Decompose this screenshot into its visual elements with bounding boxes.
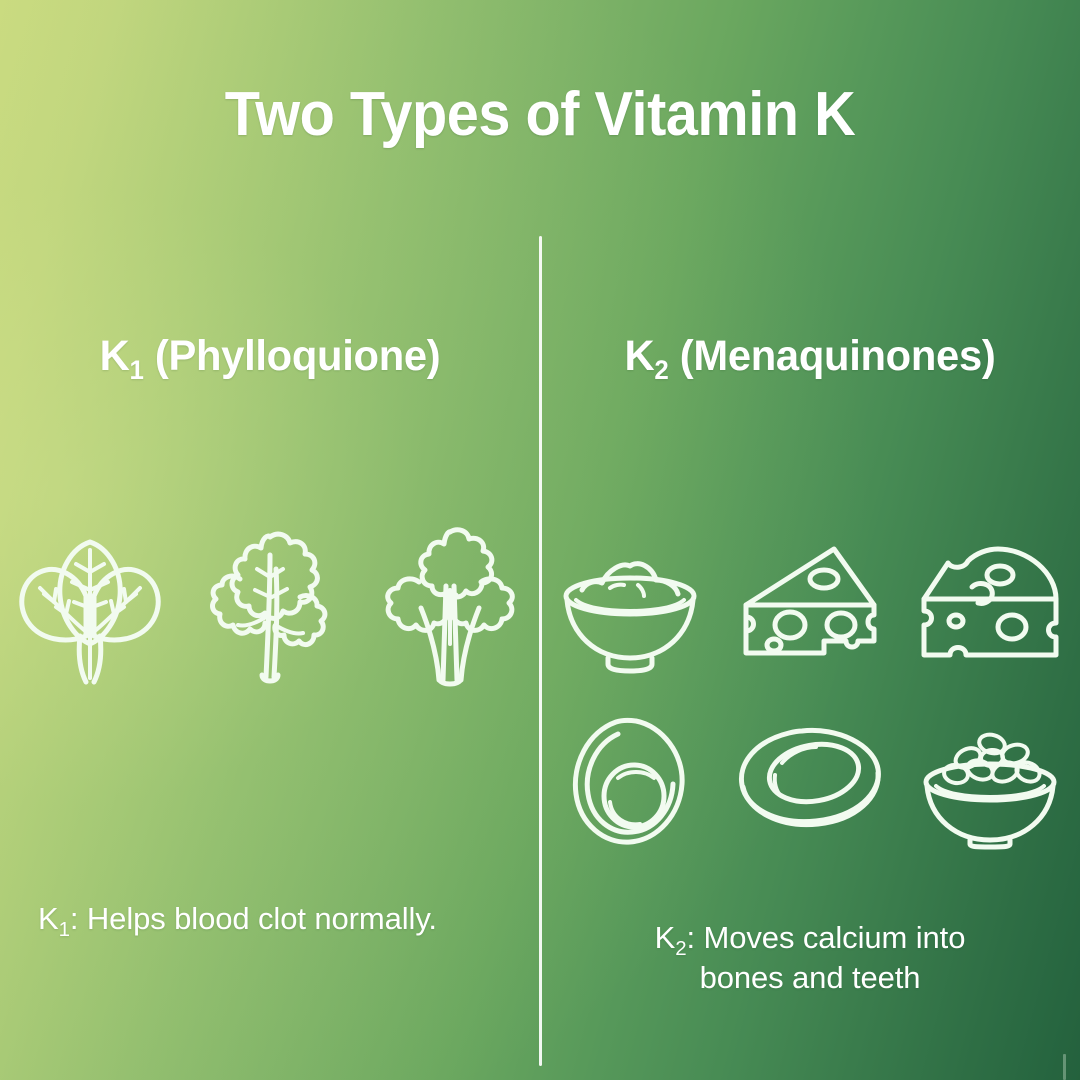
kale-icon xyxy=(180,525,360,687)
heading-k1-subscript: 1 xyxy=(129,355,143,385)
cheese-block-icon xyxy=(900,543,1080,667)
caption-k2-text-line2: bones and teeth xyxy=(700,960,921,995)
rice-bowl-icon xyxy=(540,538,720,672)
infographic-canvas: Two Types of Vitamin K K1 (Phylloquione)… xyxy=(0,0,1080,1080)
spinach-icon xyxy=(0,526,180,686)
parsley-icon xyxy=(360,524,540,688)
caption-k1-symbol: K xyxy=(38,901,59,936)
heading-k2-symbol: K xyxy=(625,332,655,380)
heading-k1: K1 (Phylloquione) xyxy=(8,332,532,381)
caption-k1-text: : Helps blood clot normally. xyxy=(70,901,437,936)
heading-k2-subscript: 2 xyxy=(654,355,668,385)
corner-watermark xyxy=(1063,1054,1066,1080)
egg-icon xyxy=(720,725,900,837)
heading-k1-symbol: K xyxy=(100,332,130,380)
natto-bowl-icon xyxy=(900,714,1080,848)
caption-k2: K2: Moves calcium intobones and teeth xyxy=(560,918,1060,999)
icon-row-k2-bottom xyxy=(540,706,1080,856)
heading-k2-name: (Menaquinones) xyxy=(680,332,996,380)
icon-row-k1 xyxy=(0,516,540,696)
caption-k2-subscript: 2 xyxy=(675,937,686,960)
heading-k1-name: (Phylloquione) xyxy=(155,332,441,380)
cheese-wedge-icon xyxy=(720,543,900,667)
caption-k1: K1: Helps blood clot normally. xyxy=(38,899,518,939)
heading-k2: K2 (Menaquinones) xyxy=(548,332,1072,381)
caption-k1-subscript: 1 xyxy=(59,918,70,941)
icon-row-k2-top xyxy=(540,530,1080,680)
caption-k2-text: : Moves calcium into xyxy=(687,920,966,955)
caption-k2-symbol: K xyxy=(655,920,676,955)
avocado-icon xyxy=(540,714,720,848)
